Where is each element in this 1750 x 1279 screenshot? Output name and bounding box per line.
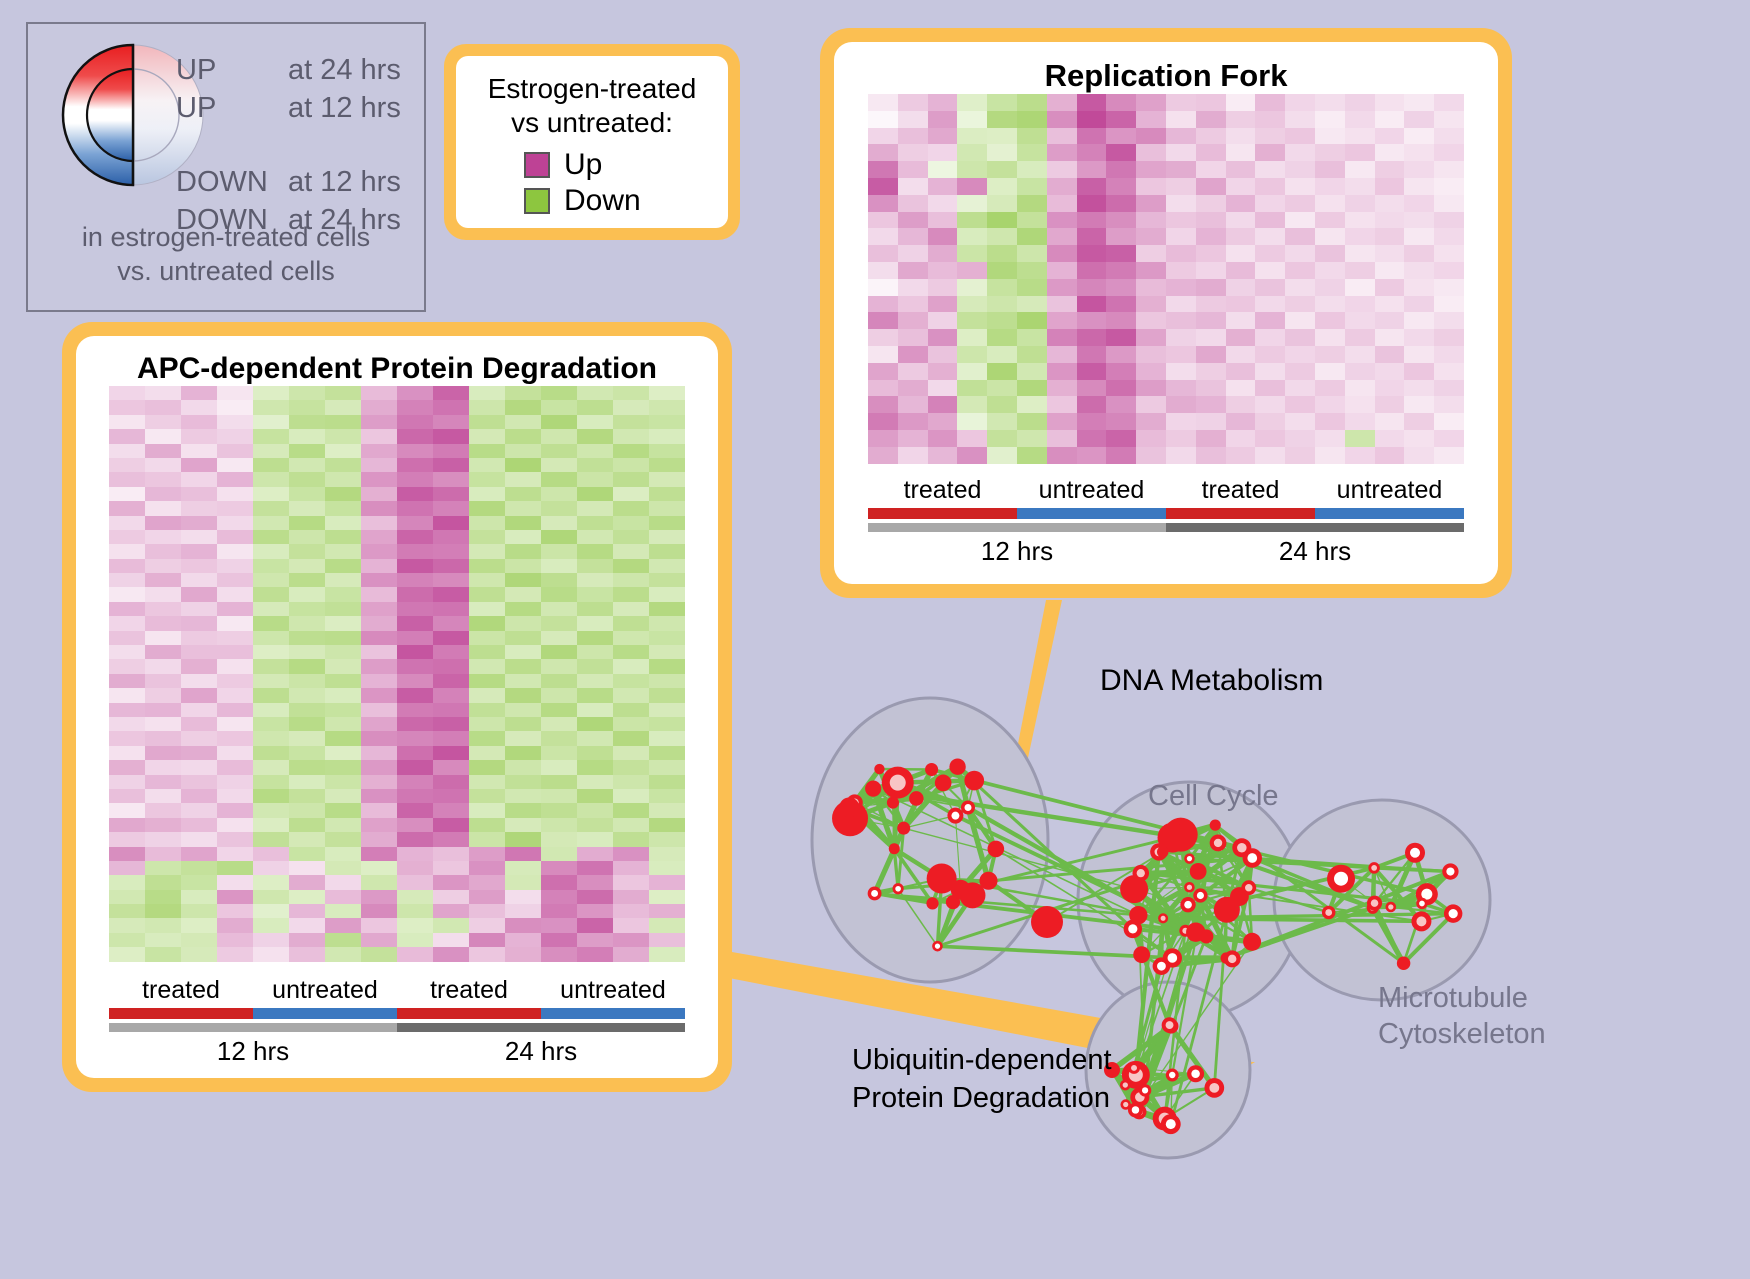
network-node[interactable] — [1224, 950, 1241, 967]
node-inner — [1237, 843, 1247, 853]
node-outer — [865, 781, 881, 797]
node-inner — [1325, 909, 1332, 916]
network-node[interactable] — [887, 797, 899, 809]
network-node[interactable] — [1128, 1062, 1140, 1074]
node-inner — [1128, 924, 1137, 933]
node-inner — [890, 775, 906, 791]
node-inner — [1123, 1082, 1128, 1087]
node-outer — [889, 843, 900, 854]
node-outer — [909, 791, 924, 806]
network-node[interactable] — [1322, 906, 1336, 920]
network-edge — [893, 803, 894, 849]
network-node[interactable] — [1386, 902, 1397, 913]
node-inner — [1334, 872, 1348, 886]
network-node[interactable] — [1139, 1084, 1151, 1096]
network-node[interactable] — [1166, 1069, 1179, 1082]
node-outer — [839, 797, 859, 817]
node-outer — [987, 841, 1004, 858]
network-node[interactable] — [979, 872, 997, 890]
network-node[interactable] — [1157, 846, 1168, 857]
node-inner — [1184, 901, 1192, 909]
network-node[interactable] — [1132, 865, 1149, 882]
node-outer — [926, 897, 938, 909]
network-node[interactable] — [865, 781, 881, 797]
node-inner — [1416, 916, 1426, 926]
network-node[interactable] — [1241, 880, 1256, 895]
node-outer — [935, 775, 952, 792]
network-node[interactable] — [935, 775, 952, 792]
network-node[interactable] — [987, 841, 1004, 858]
network-node[interactable] — [1416, 898, 1427, 909]
node-outer — [1190, 863, 1207, 880]
network-node[interactable] — [1405, 843, 1425, 863]
node-inner — [1166, 1119, 1176, 1129]
network-node[interactable] — [964, 771, 984, 791]
node-inner — [951, 812, 959, 820]
cluster-label-cell-cycle: Cell Cycle — [1148, 780, 1279, 813]
network-node[interactable] — [1133, 946, 1150, 963]
network-node[interactable] — [1158, 913, 1168, 923]
node-outer — [1129, 906, 1147, 924]
network-node[interactable] — [951, 880, 971, 900]
node-inner — [1169, 1072, 1175, 1078]
node-inner — [1166, 1021, 1174, 1029]
node-outer — [979, 872, 997, 890]
node-inner — [1142, 1087, 1148, 1093]
node-inner — [871, 890, 878, 897]
network-node[interactable] — [1210, 835, 1227, 852]
network-node[interactable] — [1187, 1065, 1204, 1082]
network-node[interactable] — [839, 797, 859, 817]
node-inner — [1131, 1065, 1137, 1071]
figure-canvas: UP at 24 hrs UP at 12 hrs DOWN at 12 hrs… — [0, 0, 1750, 1279]
network-node[interactable] — [1442, 863, 1458, 879]
node-inner — [1449, 909, 1458, 918]
node-inner — [1388, 904, 1393, 909]
node-outer — [1199, 929, 1213, 943]
network-node[interactable] — [1210, 820, 1221, 831]
node-inner — [1245, 884, 1252, 891]
node-inner — [1168, 953, 1178, 963]
node-inner — [1123, 1102, 1128, 1107]
node-outer — [964, 771, 984, 791]
network-node[interactable] — [1180, 897, 1195, 912]
node-outer — [897, 822, 910, 835]
network-node[interactable] — [1184, 882, 1195, 893]
network-node[interactable] — [1190, 863, 1207, 880]
node-inner — [1228, 955, 1236, 963]
node-inner — [1187, 856, 1192, 861]
node-outer — [1157, 846, 1168, 857]
network-node[interactable] — [1184, 853, 1195, 864]
network-node[interactable] — [1031, 906, 1063, 938]
network-node[interactable] — [868, 887, 882, 901]
network-node[interactable] — [1444, 904, 1462, 922]
network-node[interactable] — [1129, 906, 1147, 924]
network-node[interactable] — [1327, 865, 1355, 893]
network-node[interactable] — [1204, 1078, 1224, 1098]
node-inner — [1157, 962, 1166, 971]
node-inner — [1419, 901, 1425, 907]
node-inner — [1410, 848, 1420, 858]
node-inner — [1197, 892, 1204, 899]
network-node[interactable] — [1411, 911, 1431, 931]
network-node[interactable] — [1162, 1017, 1178, 1033]
network-node[interactable] — [925, 763, 938, 776]
node-outer — [1243, 933, 1261, 951]
node-inner — [1209, 1083, 1219, 1093]
node-outer — [949, 759, 965, 775]
cluster-label-dna-metabolism: DNA Metabolism — [1100, 664, 1323, 698]
node-outer — [1031, 906, 1063, 938]
node-inner — [1371, 899, 1379, 907]
network-node[interactable] — [1397, 957, 1411, 971]
node-inner — [964, 804, 971, 811]
network-node[interactable] — [1199, 929, 1213, 943]
node-outer — [1397, 957, 1411, 971]
node-outer — [951, 880, 971, 900]
network-node[interactable] — [1193, 888, 1207, 902]
network-node[interactable] — [889, 843, 900, 854]
network-node[interactable] — [1243, 848, 1262, 867]
node-inner — [1132, 1106, 1139, 1113]
network-node[interactable] — [947, 808, 963, 824]
network-node[interactable] — [1128, 1102, 1143, 1117]
network-node[interactable] — [897, 822, 910, 835]
network-node[interactable] — [909, 791, 924, 806]
network-node[interactable] — [1367, 896, 1382, 911]
node-outer — [1133, 946, 1150, 963]
node-inner — [1214, 839, 1222, 847]
node-inner — [1161, 916, 1166, 921]
cluster-label-ubiquitin: Ubiquitin-dependent Protein Degradation — [852, 1042, 1112, 1117]
node-inner — [935, 944, 940, 949]
network-node[interactable] — [932, 941, 943, 952]
network-node[interactable] — [1120, 1080, 1131, 1091]
network-node[interactable] — [1153, 957, 1171, 975]
node-outer — [925, 763, 938, 776]
node-inner — [1247, 853, 1257, 863]
network-node[interactable] — [926, 897, 938, 909]
network-node[interactable] — [949, 759, 965, 775]
node-inner — [1446, 867, 1454, 875]
node-inner — [1191, 1069, 1200, 1078]
network-node[interactable] — [1243, 933, 1261, 951]
network-node[interactable] — [892, 883, 903, 894]
network-node[interactable] — [1161, 1114, 1181, 1134]
node-outer — [1210, 820, 1221, 831]
network-node[interactable] — [882, 767, 914, 799]
node-inner — [1371, 865, 1377, 871]
network-node[interactable] — [874, 764, 884, 774]
node-inner — [895, 886, 901, 892]
cluster-bubble-dna-metabolism — [812, 698, 1048, 982]
node-inner — [1187, 885, 1192, 890]
cluster-label-microtubule: Microtubule Cytoskeleton — [1378, 980, 1546, 1053]
network-node[interactable] — [961, 801, 975, 815]
node-outer — [887, 797, 899, 809]
node-inner — [1137, 869, 1145, 877]
node-outer — [874, 764, 884, 774]
network-node[interactable] — [1368, 862, 1380, 874]
